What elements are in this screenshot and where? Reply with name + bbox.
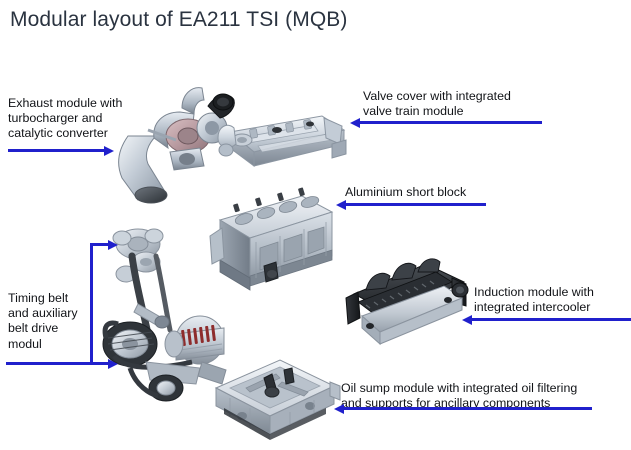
arrow-exhaust-module — [8, 149, 114, 152]
arrow-oil-sump-module — [334, 407, 592, 410]
part-valve-cover — [214, 104, 348, 176]
arrow-valve-cover-module — [350, 121, 542, 124]
arrow-induction-module — [462, 318, 631, 321]
callout-label-valve-cover: Valve cover with integrated valve train … — [363, 89, 563, 119]
slide-canvas: Modular layout of EA211 TSI (MQB) — [0, 0, 631, 450]
arrow-timing-belt-module — [6, 243, 122, 365]
page-title: Modular layout of EA211 TSI (MQB) — [10, 8, 348, 32]
callout-label-induction: Induction module with integrated interco… — [474, 285, 631, 315]
arrow-aluminium-short-block — [336, 203, 486, 206]
callout-label-short-block: Aluminium short block — [345, 185, 545, 200]
callout-label-exhaust: Exhaust module with turbocharger and cat… — [8, 96, 158, 142]
part-induction-module — [340, 256, 472, 350]
part-oil-sump — [206, 352, 342, 442]
